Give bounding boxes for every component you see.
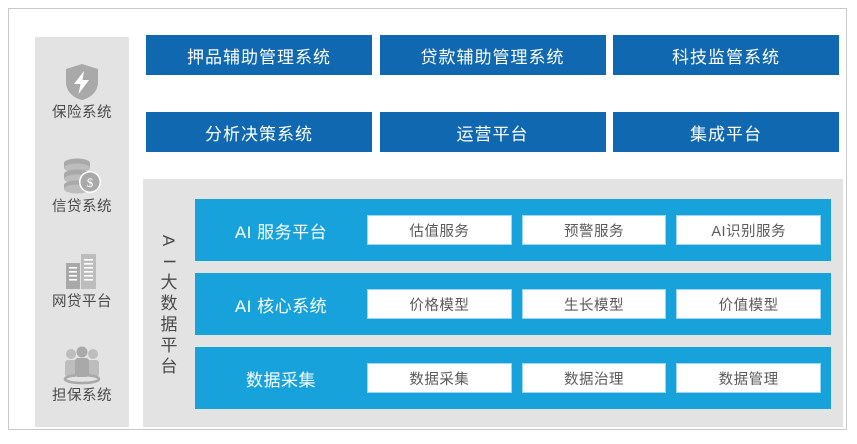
platform-row-cells: 数据采集 数据治理 数据管理 <box>367 363 821 393</box>
platform-cell-valuation-service[interactable]: 估值服务 <box>367 215 512 245</box>
system-button-tech-supervision[interactable]: 科技监管系统 <box>613 35 839 75</box>
ai-bigdata-platform-panel: A I 大 数 据 平 台 AI 服务平台 估值服务 预警服务 AI识别服务 A… <box>143 179 843 427</box>
top-system-row-1: 押品辅助管理系统 贷款辅助管理系统 科技监管系统 <box>146 35 839 75</box>
platform-cell-ai-recognition-service[interactable]: AI识别服务 <box>676 215 821 245</box>
platform-cell-alert-service[interactable]: 预警服务 <box>522 215 667 245</box>
coins-dollar-icon: $ <box>60 155 104 197</box>
platform-row-cells: 估值服务 预警服务 AI识别服务 <box>367 215 821 245</box>
platform-row-collection: 数据采集 数据采集 数据治理 数据管理 <box>195 347 831 409</box>
platform-cell-value-model[interactable]: 价值模型 <box>676 289 821 319</box>
sidebar-item-credit[interactable]: $ 信贷系统 <box>35 155 129 215</box>
sidebar-item-label: 网贷平台 <box>52 295 112 310</box>
diagram-frame: 保险系统 $ 信贷系统 <box>8 8 847 430</box>
svg-text:$: $ <box>87 175 94 190</box>
top-system-row-2: 分析决策系统 运营平台 集成平台 <box>146 112 839 152</box>
system-button-loan[interactable]: 贷款辅助管理系统 <box>380 35 606 75</box>
platform-row-title: 数据采集 <box>195 366 367 391</box>
platform-row-title: AI 服务平台 <box>195 218 367 243</box>
system-button-operations-platform[interactable]: 运营平台 <box>380 112 606 152</box>
vertical-char: I <box>160 259 177 264</box>
system-button-analysis-decision[interactable]: 分析决策系统 <box>146 112 372 152</box>
platform-row-service: AI 服务平台 估值服务 预警服务 AI识别服务 <box>195 199 831 261</box>
platform-row-title: AI 核心系统 <box>195 292 367 317</box>
vertical-char: A <box>161 234 178 245</box>
sidebar-item-label: 保险系统 <box>52 106 112 121</box>
platform-vertical-label: A I 大 数 据 平 台 <box>149 191 189 415</box>
vertical-char: 平 <box>161 337 178 354</box>
sidebar-item-online-lending[interactable]: 网贷平台 <box>35 250 129 310</box>
platform-rows: AI 服务平台 估值服务 预警服务 AI识别服务 AI 核心系统 价格模型 生长… <box>195 199 831 409</box>
system-button-collateral[interactable]: 押品辅助管理系统 <box>146 35 372 75</box>
shield-bolt-icon <box>60 61 104 103</box>
platform-cell-growth-model[interactable]: 生长模型 <box>522 289 667 319</box>
system-button-integration-platform[interactable]: 集成平台 <box>613 112 839 152</box>
sidebar-item-label: 信贷系统 <box>52 200 112 215</box>
buildings-icon <box>60 250 104 292</box>
platform-cell-data-collection[interactable]: 数据采集 <box>367 363 512 393</box>
vertical-char: 大 <box>161 274 178 291</box>
people-group-icon <box>60 344 104 386</box>
vertical-char: 台 <box>161 358 178 375</box>
sidebar: 保险系统 $ 信贷系统 <box>35 37 129 427</box>
sidebar-item-guarantee[interactable]: 担保系统 <box>35 344 129 404</box>
sidebar-item-label: 担保系统 <box>52 389 112 404</box>
platform-row-cells: 价格模型 生长模型 价值模型 <box>367 289 821 319</box>
platform-cell-data-governance[interactable]: 数据治理 <box>522 363 667 393</box>
platform-cell-price-model[interactable]: 价格模型 <box>367 289 512 319</box>
platform-cell-data-management[interactable]: 数据管理 <box>676 363 821 393</box>
platform-row-core: AI 核心系统 价格模型 生长模型 价值模型 <box>195 273 831 335</box>
sidebar-item-insurance[interactable]: 保险系统 <box>35 61 129 121</box>
vertical-char: 数 <box>161 295 178 312</box>
vertical-char: 据 <box>161 316 178 333</box>
